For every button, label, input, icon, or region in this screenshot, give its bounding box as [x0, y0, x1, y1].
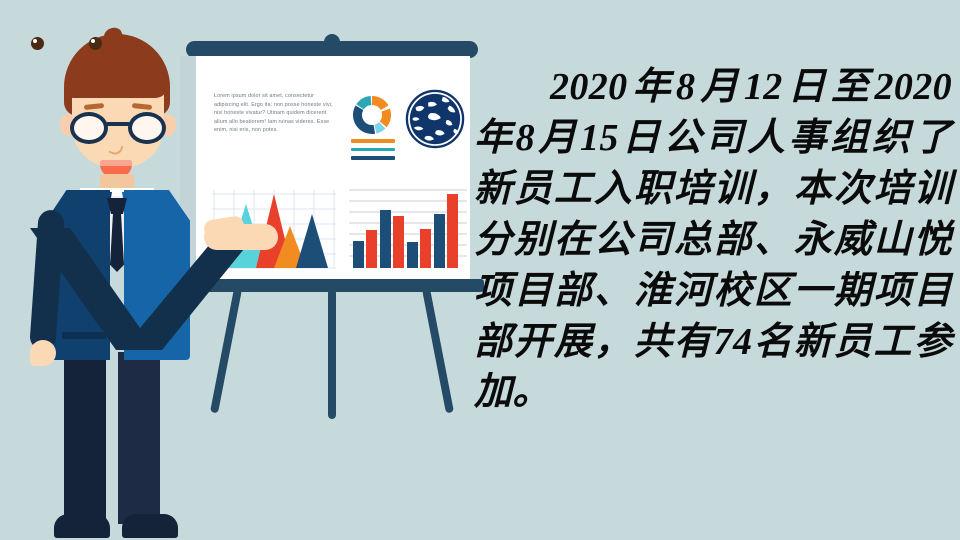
legend-bar-orange [351, 139, 395, 143]
mouth-highlight [100, 160, 132, 166]
trouser-right [118, 352, 160, 524]
trouser-left [64, 352, 106, 524]
eyeglasses-icon [70, 112, 166, 144]
easel-leg-center [328, 289, 336, 419]
pupil-highlight-left [33, 39, 37, 43]
easel-leg-right [422, 288, 454, 413]
body-paragraph: 2020年8月12日至2020年8月15日公司人事组织了新员工入职培训，本次培训… [474, 62, 952, 418]
slide-canvas: Lorem ipsum dolor sit amet, consectetur … [0, 0, 960, 540]
bar-chart [349, 186, 467, 270]
donut-chart-legend [351, 139, 395, 165]
donut-chart-icon [351, 94, 393, 136]
hair-fringe [68, 64, 168, 98]
shoe-left [54, 514, 110, 538]
lens-left [70, 112, 108, 144]
presenter-illustration [18, 28, 218, 540]
glasses-bridge [106, 122, 130, 126]
whiteboard-lorem-text: Lorem ipsum dolor sit amet, consectetur … [214, 92, 338, 135]
legend-bar-teal [351, 148, 395, 152]
lens-right [128, 112, 166, 144]
shoe-right [122, 514, 178, 538]
pupil-highlight-right [91, 39, 95, 43]
legend-bar-navy [351, 156, 395, 160]
globe-icon [404, 88, 466, 150]
